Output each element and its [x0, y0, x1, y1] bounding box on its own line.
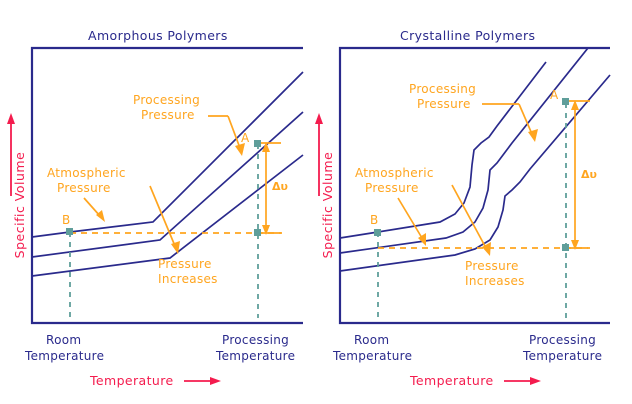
y-axis-label-left: Specific Volume	[12, 143, 30, 267]
crystalline-curve-intermediate	[340, 48, 600, 253]
crystalline-xtick-room-line1: Room	[354, 333, 389, 347]
crystalline-anno-atmospheric-pressure-line2: Pressure	[365, 181, 419, 195]
crystalline-marker-a	[562, 98, 569, 105]
crystalline-anno-pressure-increases-line1: Pressure	[465, 259, 519, 273]
amorphous-leader-atmospheric-pressure	[84, 198, 105, 222]
amorphous-xtick-processing-line1: Processing	[222, 333, 289, 347]
crystalline-x-axis-label: Temperature	[409, 373, 494, 388]
amorphous-panel-title: Amorphous Polymers	[88, 28, 228, 43]
y-axis-arrow-right	[308, 110, 332, 210]
crystalline-point-label-a: A	[550, 88, 559, 102]
amorphous-anno-processing-pressure-line1: Processing	[133, 93, 200, 107]
crystalline-xtick-processing-line2: Temperature	[522, 349, 602, 363]
amorphous-point-label-b: B	[62, 213, 70, 227]
crystalline-point-label-b: B	[370, 213, 378, 227]
amorphous-anno-pressure-increases-line2: Increases	[158, 272, 218, 286]
amorphous-x-axis-label: Temperature	[89, 373, 174, 388]
amorphous-x-axis-arrow	[184, 377, 221, 385]
amorphous-marker-b	[66, 228, 73, 235]
amorphous-xtick-processing-line2: Temperature	[215, 349, 295, 363]
amorphous-marker-a-base	[254, 229, 261, 236]
crystalline-anno-atmospheric-pressure-line1: Atmospheric	[355, 166, 434, 180]
crystalline-panel-title: Crystalline Polymers	[400, 28, 535, 43]
crystalline-marker-a-base	[562, 244, 569, 251]
amorphous-xtick-room-line1: Room	[46, 333, 81, 347]
crystalline-anno-pressure-increases-line2: Increases	[465, 274, 525, 288]
amorphous-xtick-room-line2: Temperature	[24, 349, 104, 363]
crystalline-leader-pressure-increases	[452, 185, 491, 256]
amorphous-delta-v-label: Δυ	[272, 180, 288, 193]
amorphous-anno-pressure-increases-line1: Pressure	[158, 257, 212, 271]
crystalline-delta-v-label: Δυ	[581, 168, 597, 181]
amorphous-anno-atmospheric-pressure-line1: Atmospheric	[47, 166, 126, 180]
crystalline-x-axis-arrow	[504, 377, 541, 385]
amorphous-anno-processing-pressure-line2: Pressure	[141, 108, 195, 122]
amorphous-anno-atmospheric-pressure-line2: Pressure	[57, 181, 111, 195]
crystalline-anno-processing-pressure-line2: Pressure	[417, 97, 471, 111]
amorphous-marker-a	[254, 140, 261, 147]
crystalline-xtick-room-line2: Temperature	[332, 349, 412, 363]
figure-canvas: Δυ B A Processing Pressure Atmospheric P…	[0, 0, 632, 404]
crystalline-anno-processing-pressure-line1: Processing	[409, 82, 476, 96]
amorphous-point-label-a: A	[241, 131, 250, 145]
crystalline-leader-atmospheric-pressure	[398, 198, 426, 246]
crystalline-xtick-processing-line1: Processing	[529, 333, 596, 347]
crystalline-marker-b	[374, 229, 381, 236]
